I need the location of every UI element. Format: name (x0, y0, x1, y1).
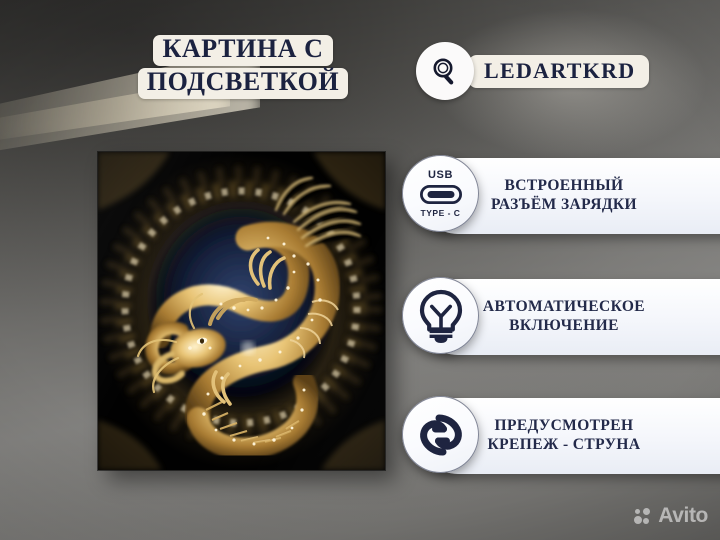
feature-badge-auto-on (402, 277, 479, 354)
usb-top-label: USB (428, 170, 453, 181)
feature-text-auto-on: АВТОМАТИЧЕСКОЕ ВКЛЮЧЕНИЕ (478, 298, 650, 336)
feature-mount-line-2: КРЕПЕЖ - СТРУНА (478, 436, 650, 455)
feature-mount-line-1: ПРЕДУСМОТРЕН (478, 417, 650, 436)
feature-auto-line-1: АВТОМАТИЧЕСКОЕ (478, 298, 650, 317)
feature-text-mount: ПРЕДУСМОТРЕН КРЕПЕЖ - СТРУНА (478, 417, 650, 455)
usb-bottom-label: TYPE - C (421, 209, 461, 218)
feature-badge-usb: USB TYPE - C (402, 155, 479, 232)
avito-dots-icon (634, 508, 653, 525)
feature-usb-line-1: ВСТРОЕННЫЙ (478, 177, 650, 196)
feature-text-usb: ВСТРОЕННЫЙ РАЗЪЁМ ЗАРЯДКИ (478, 177, 650, 215)
feature-auto-line-2: ВКЛЮЧЕНИЕ (478, 317, 650, 336)
brand-name: LEDARTKRD (468, 55, 649, 88)
title-line-1: КАРТИНА С (153, 35, 332, 66)
avito-label: Avito (658, 504, 708, 528)
chain-link-icon (416, 410, 466, 460)
artwork-canvas (98, 152, 385, 470)
usb-type-c-icon (420, 185, 462, 204)
product-image[interactable] (98, 152, 385, 470)
magnifier-icon (428, 54, 462, 88)
brand-lockup[interactable]: LEDARTKRD (416, 40, 649, 102)
lightbulb-icon (418, 289, 464, 343)
promo-banner: КАРТИНА С ПОДСВЕТКОЙ LEDARTKRD (0, 0, 720, 540)
avito-watermark: Avito (634, 504, 708, 528)
title-line-2: ПОДСВЕТКОЙ (138, 68, 349, 99)
dragon-illustration (98, 152, 385, 470)
brand-badge (416, 42, 474, 100)
feature-badge-mount (402, 396, 479, 473)
feature-usb-line-2: РАЗЪЁМ ЗАРЯДКИ (478, 196, 650, 215)
page-title: КАРТИНА С ПОДСВЕТКОЙ (98, 34, 388, 100)
